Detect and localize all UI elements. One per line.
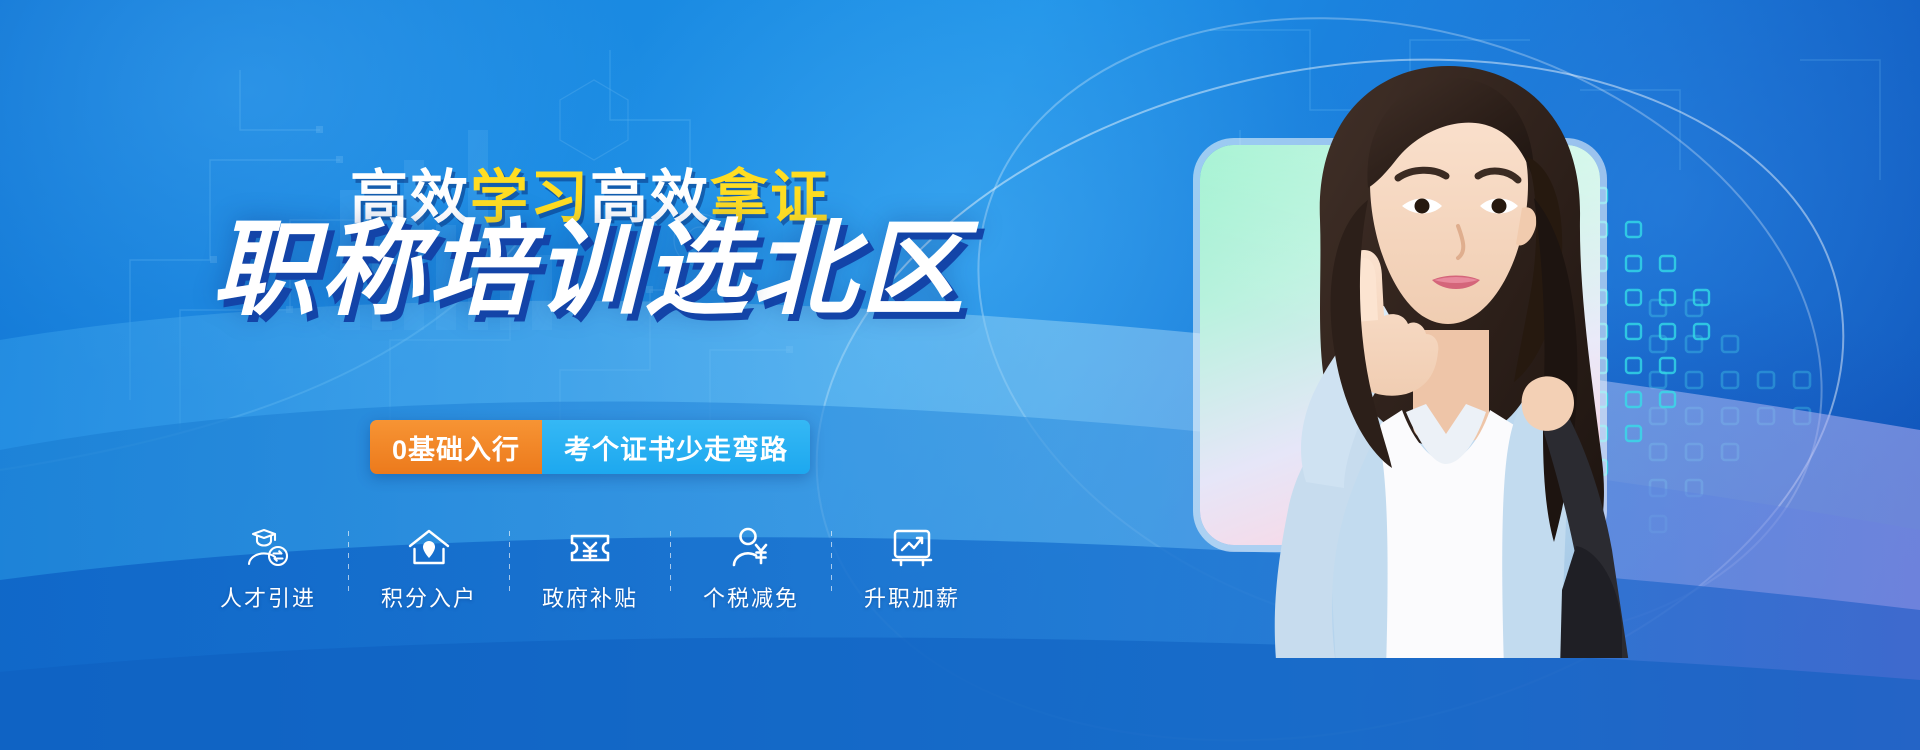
title-marked-character: 选 — [644, 218, 752, 322]
badge-primary-label: 0基础入行 — [370, 420, 542, 474]
feature-label: 人才引进 — [220, 581, 316, 613]
hero-photo-stage — [1200, 120, 1630, 550]
feature-divider — [348, 531, 349, 591]
badge-secondary-label: 考个证书少走弯路 — [542, 420, 810, 474]
avatar — [1130, 30, 1690, 670]
coupon-yuan-icon — [568, 525, 612, 571]
feature-item-tax-reduction[interactable]: 个税减免 — [685, 525, 817, 613]
feature-divider — [831, 531, 832, 591]
banner-copy-block: 高效学习高效拿证 职称培训选北区 0基础入行 考个证书少走弯路 — [0, 0, 1180, 750]
promo-banner: 高效学习高效拿证 职称培训选北区 0基础入行 考个证书少走弯路 — [0, 0, 1920, 750]
house-pin-icon — [407, 525, 451, 571]
subtitle-badge-row: 0基础入行 考个证书少走弯路 — [0, 420, 1180, 474]
feature-divider — [509, 531, 510, 591]
person-yuan-icon — [731, 525, 771, 571]
feature-list: 人才引进 积分入户 — [0, 525, 1180, 613]
page-title: 职称培训选北区 — [0, 218, 1180, 322]
graduate-person-icon — [245, 525, 291, 571]
feature-item-government-subsidy[interactable]: 政府补贴 — [524, 525, 656, 613]
feature-label: 积分入户 — [381, 581, 477, 613]
feature-item-talent-introduction[interactable]: 人才引进 — [202, 525, 334, 613]
feature-divider — [670, 531, 671, 591]
feature-item-promotion-raise[interactable]: 升职加薪 — [846, 525, 978, 613]
title-after: 北区 — [752, 212, 968, 328]
status-badge: 0基础入行 考个证书少走弯路 — [370, 420, 810, 474]
feature-label: 政府补贴 — [542, 581, 638, 613]
feature-item-points-residency[interactable]: 积分入户 — [363, 525, 495, 613]
feature-label: 升职加薪 — [864, 581, 960, 613]
feature-label: 个税减免 — [703, 581, 799, 613]
growth-chart-icon — [891, 525, 933, 571]
title-before: 职称培训 — [212, 212, 644, 328]
